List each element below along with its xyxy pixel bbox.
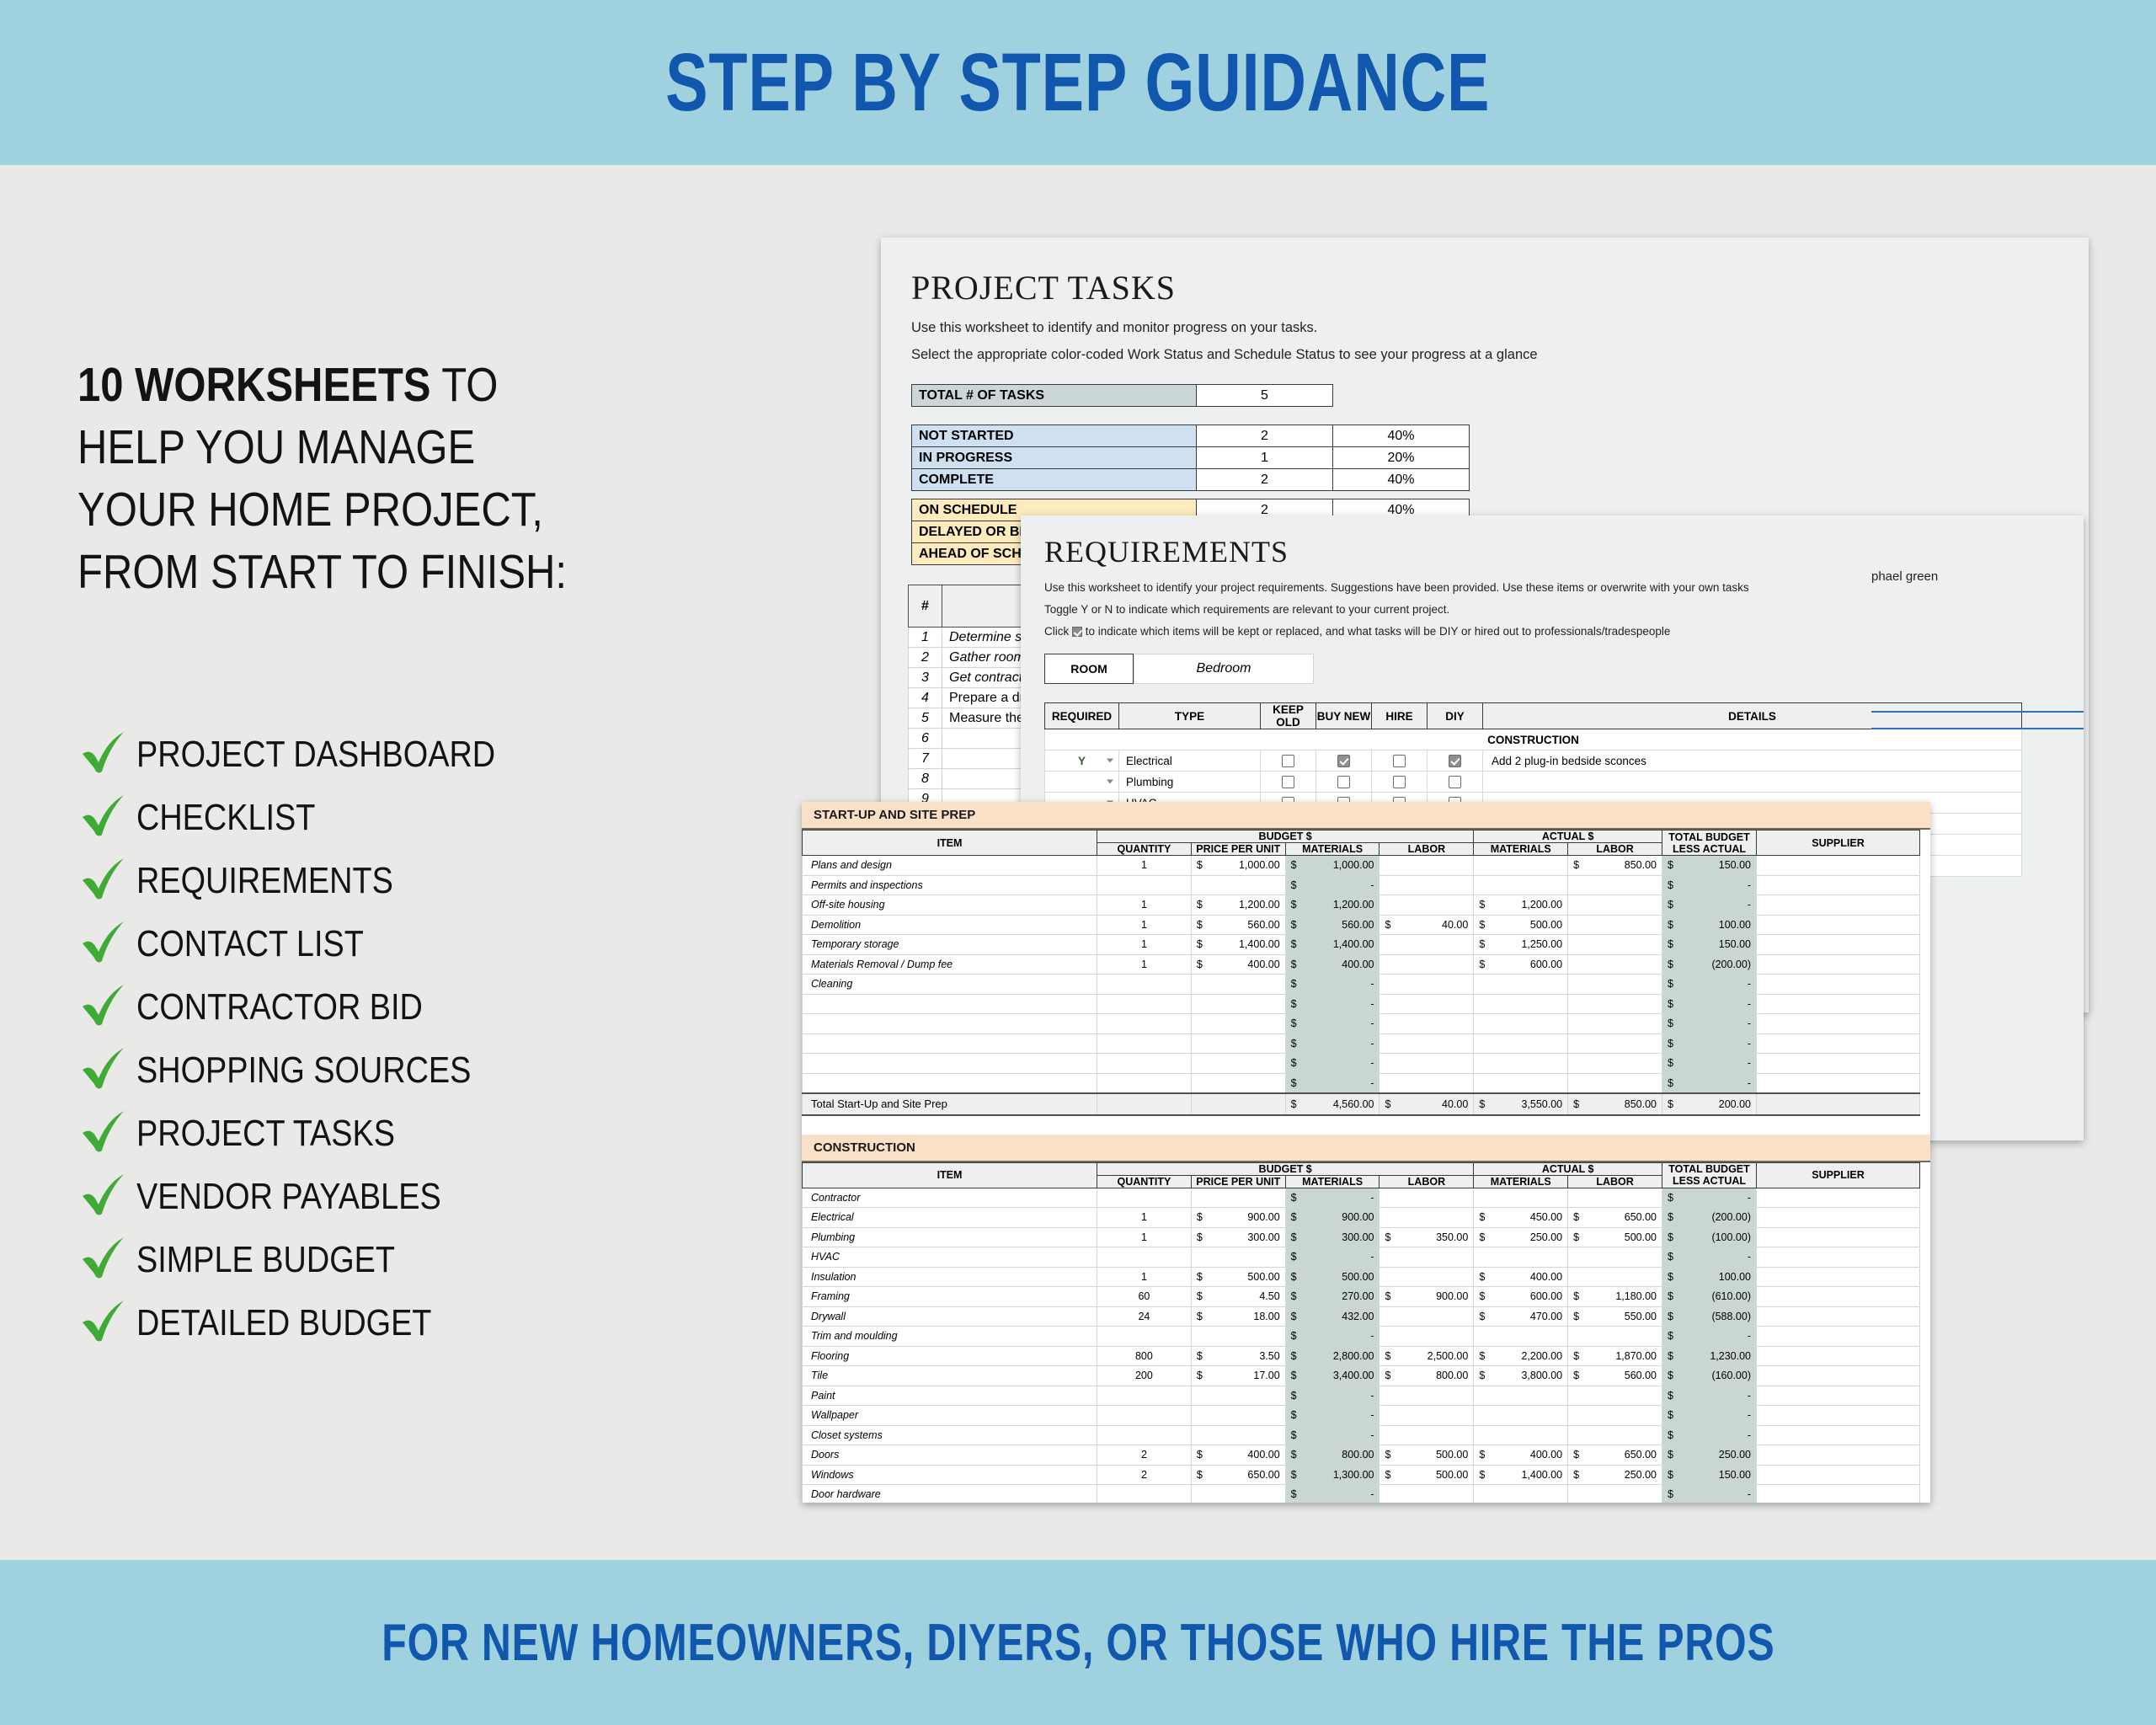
currency-symbol: $ [1668, 1211, 1673, 1223]
currency-symbol: $ [1291, 1271, 1297, 1283]
budget-price-per-unit [1191, 1327, 1285, 1347]
table-header-row-1: ITEMBUDGET $ACTUAL $TOTAL BUDGET LESS AC… [803, 1162, 1920, 1175]
budget-quantity[interactable] [1097, 875, 1192, 895]
worksheet-item-label: CONTRACTOR BID [136, 986, 423, 1028]
table-row[interactable]: Off-site housing1$1,200.00$1,200.00$1,20… [803, 895, 1920, 916]
actual-materials [1474, 1386, 1568, 1406]
budget-item[interactable]: Plumbing [803, 1227, 1097, 1247]
room-value[interactable]: Bedroom [1134, 654, 1314, 684]
actual-materials [1474, 1247, 1568, 1268]
budget-quantity[interactable] [1097, 1247, 1192, 1268]
currency-symbol: $ [1479, 1211, 1485, 1223]
budget-supplier[interactable] [1757, 935, 1920, 955]
budget-supplier[interactable] [1757, 1465, 1920, 1485]
budget-labor: $800.00 [1380, 1366, 1474, 1386]
keep-old-cell[interactable] [1261, 772, 1316, 793]
checkbox-icon[interactable] [1449, 755, 1461, 767]
budget-item[interactable]: Trim and moulding [803, 1327, 1097, 1347]
currency-symbol: $ [1291, 1077, 1297, 1089]
budget-col-budget-group: BUDGET $ [1097, 1162, 1474, 1175]
room-label: ROOM [1044, 654, 1134, 684]
budget-price-per-unit [1191, 1054, 1285, 1074]
project-tasks-subtitle-2: Select the appropriate color-coded Work … [911, 347, 1538, 363]
room-selector[interactable]: ROOM Bedroom [1044, 654, 1314, 684]
checkbox-icon [1072, 627, 1082, 637]
currency-symbol: $ [1479, 1350, 1485, 1362]
budget-supplier[interactable] [1757, 1406, 1920, 1426]
table-row[interactable]: Door hardware$-$- [803, 1485, 1920, 1503]
checkbox-icon[interactable] [1282, 776, 1294, 788]
budget-quantity[interactable]: 1 [1097, 935, 1192, 955]
budget-price-per-unit [1191, 1247, 1285, 1268]
budget-materials: $1,200.00 [1285, 895, 1380, 916]
budget-item[interactable]: Demolition [803, 915, 1097, 935]
currency-symbol: $ [1291, 1017, 1297, 1029]
budget-quantity[interactable]: 2 [1097, 1445, 1192, 1466]
actual-materials: $1,250.00 [1474, 935, 1568, 955]
budget-item[interactable]: Paint [803, 1386, 1097, 1406]
currency-symbol: $ [1385, 1098, 1390, 1110]
budget-col-quantity: QUANTITY [1097, 1175, 1192, 1188]
project-tasks-title: PROJECT TASKS [911, 268, 1176, 307]
budget-item[interactable]: Door hardware [803, 1485, 1097, 1503]
required-cell[interactable] [1045, 772, 1119, 793]
actual-labor: $1,870.00 [1568, 1346, 1662, 1366]
budget-supplier[interactable] [1757, 875, 1920, 895]
currency-symbol: $ [1479, 1290, 1485, 1302]
budget-item[interactable] [803, 1054, 1097, 1074]
budget-item[interactable]: HVAC [803, 1247, 1097, 1268]
table-row[interactable]: Plumbing [1045, 772, 2022, 793]
table-row[interactable]: Cleaning$-$- [803, 975, 1920, 995]
currency-symbol: $ [1573, 1469, 1579, 1481]
budget-less-actual: $100.00 [1662, 1267, 1757, 1287]
currency-symbol: $ [1668, 1390, 1673, 1402]
budget-item[interactable] [803, 1033, 1097, 1054]
budget-quantity[interactable]: 1 [1097, 1208, 1192, 1228]
headline-block: 10 WORKSHEETS TO HELP YOU MANAGE YOUR HO… [77, 354, 785, 603]
chevron-down-icon[interactable] [1107, 780, 1113, 784]
budget-price-per-unit [1191, 1485, 1285, 1503]
budget-materials: $1,300.00 [1285, 1465, 1380, 1485]
required-value: Y [1078, 755, 1086, 767]
budget-price-per-unit: $900.00 [1191, 1208, 1285, 1228]
currency-symbol: $ [1291, 899, 1297, 911]
currency-symbol: $ [1668, 1370, 1673, 1381]
budget-quantity[interactable]: 2 [1097, 1465, 1192, 1485]
budget-supplier[interactable] [1757, 1073, 1920, 1093]
budget-item[interactable]: Framing [803, 1287, 1097, 1307]
table-row[interactable]: Doors2$400.00$800.00$500.00$400.00$650.0… [803, 1445, 1920, 1466]
budget-less-actual: $150.00 [1662, 935, 1757, 955]
actual-materials [1474, 1485, 1568, 1503]
budget-supplier[interactable] [1757, 975, 1920, 995]
budget-materials: $- [1285, 1054, 1380, 1074]
budget-supplier[interactable] [1757, 1033, 1920, 1054]
budget-price-per-unit: $1,400.00 [1191, 935, 1285, 955]
budget-less-actual: $150.00 [1662, 856, 1757, 876]
table-row[interactable]: Plumbing1$300.00$300.00$350.00$250.00$50… [803, 1227, 1920, 1247]
table-row[interactable]: Demolition1$560.00$560.00$40.00$500.00$1… [803, 915, 1920, 935]
budget-col-materials: MATERIALS [1285, 1175, 1380, 1188]
budget-supplier[interactable] [1757, 1445, 1920, 1466]
budget-materials: $- [1285, 875, 1380, 895]
worksheet-item-label: VENDOR PAYABLES [136, 1176, 441, 1218]
budget-item[interactable] [803, 1073, 1097, 1093]
budget-col-labor: LABOR [1380, 1175, 1474, 1188]
bottom-banner-title: FOR NEW HOMEOWNERS, DIYERS, OR THOSE WHO… [382, 1613, 1774, 1673]
budget-item[interactable] [803, 994, 1097, 1014]
budget-labor [1380, 1425, 1474, 1445]
budget-materials: $- [1285, 1188, 1380, 1208]
budget-labor [1380, 1208, 1474, 1228]
check-icon [77, 1044, 130, 1097]
budget-supplier[interactable] [1757, 1366, 1920, 1386]
budget-price-per-unit: $18.00 [1191, 1306, 1285, 1327]
table-header-row: REQUIREDTYPEKEEP OLDBUY NEWHIREDIYDETAIL… [1045, 703, 2022, 729]
table-row[interactable]: $-$- [803, 1014, 1920, 1034]
currency-symbol: $ [1291, 1057, 1297, 1069]
budget-supplier[interactable] [1757, 1386, 1920, 1406]
table-row[interactable]: Materials Removal / Dump fee1$400.00$400… [803, 954, 1920, 975]
currency-symbol: $ [1197, 1231, 1203, 1243]
budget-item[interactable]: Electrical [803, 1208, 1097, 1228]
budget-section-band: CONSTRUCTION [802, 1135, 1930, 1162]
currency-symbol: $ [1291, 938, 1297, 950]
budget-materials: $3,400.00 [1285, 1366, 1380, 1386]
buy-new-cell[interactable] [1316, 750, 1372, 772]
budget-col-materials: MATERIALS [1285, 843, 1380, 856]
budget-quantity[interactable] [1097, 1014, 1192, 1034]
currency-symbol: $ [1385, 919, 1390, 931]
budget-less-actual: $(100.00) [1662, 1227, 1757, 1247]
checkbox-icon[interactable] [1449, 776, 1461, 788]
budget-supplier[interactable] [1757, 1014, 1920, 1034]
budget-price-per-unit: $300.00 [1191, 1227, 1285, 1247]
actual-labor: $650.00 [1568, 1445, 1662, 1466]
budget-item[interactable] [803, 1014, 1097, 1034]
budget-table[interactable]: ITEMBUDGET $ACTUAL $TOTAL BUDGET LESS AC… [802, 1162, 1920, 1503]
actual-materials: $1,400.00 [1474, 1465, 1568, 1485]
actual-labor [1568, 1386, 1662, 1406]
budget-materials: $900.00 [1285, 1208, 1380, 1228]
checkbox-icon[interactable] [1282, 755, 1294, 767]
table-row[interactable]: Temporary storage1$1,400.00$1,400.00$1,2… [803, 935, 1920, 955]
budget-quantity[interactable]: 24 [1097, 1306, 1192, 1327]
currency-symbol: $ [1668, 959, 1673, 970]
checkbox-icon[interactable] [1393, 776, 1406, 788]
budget-quantity[interactable]: 1 [1097, 915, 1192, 935]
requirement-details[interactable] [1483, 772, 2022, 793]
status-count: 2 [1197, 425, 1333, 447]
actual-labor [1568, 994, 1662, 1014]
currency-symbol: $ [1197, 938, 1203, 950]
currency-symbol: $ [1291, 859, 1297, 871]
table-row[interactable]: Tile200$17.00$3,400.00$800.00$3,800.00$5… [803, 1366, 1920, 1386]
budget-quantity[interactable]: 60 [1097, 1287, 1192, 1307]
table-row[interactable]: Flooring800$3.50$2,800.00$2,500.00$2,200… [803, 1346, 1920, 1366]
budget-supplier[interactable] [1757, 895, 1920, 916]
budget-quantity[interactable] [1097, 1188, 1192, 1208]
table-row[interactable]: Trim and moulding$-$- [803, 1327, 1920, 1347]
budget-supplier[interactable] [1757, 1208, 1920, 1228]
check-icon [77, 729, 130, 781]
budget-labor [1380, 1327, 1474, 1347]
currency-symbol: $ [1668, 1330, 1673, 1342]
worksheet-item-contact-list: CONTACT LIST [77, 912, 802, 975]
checkbox-icon[interactable] [1337, 755, 1350, 767]
keep-old-cell[interactable] [1261, 750, 1316, 772]
currency-symbol: $ [1668, 1469, 1673, 1481]
table-row[interactable]: $-$- [803, 1073, 1920, 1093]
table-row[interactable]: Windows2$650.00$1,300.00$500.00$1,400.00… [803, 1465, 1920, 1485]
budget-less-actual: $- [1662, 1485, 1757, 1503]
checkbox-icon[interactable] [1337, 776, 1350, 788]
status-percent: 20% [1333, 447, 1470, 469]
currency-symbol: $ [1573, 1098, 1579, 1110]
table-row[interactable]: YElectricalAdd 2 plug-in bedside sconces [1045, 750, 2022, 772]
budget-price-per-unit: $560.00 [1191, 915, 1285, 935]
table-row[interactable]: Framing60$4.50$270.00$900.00$600.00$1,18… [803, 1287, 1920, 1307]
budget-col-supplier: SUPPLIER [1757, 1162, 1920, 1188]
currency-symbol: $ [1668, 938, 1673, 950]
currency-symbol: $ [1573, 1370, 1579, 1381]
budget-supplier[interactable] [1757, 1054, 1920, 1074]
bottom-banner: FOR NEW HOMEOWNERS, DIYERS, OR THOSE WHO… [0, 1560, 2156, 1725]
budget-price-per-unit: $1,200.00 [1191, 895, 1285, 916]
currency-symbol: $ [1291, 1330, 1297, 1342]
currency-symbol: $ [1668, 859, 1673, 871]
headline-bold: 10 WORKSHEETS [77, 358, 430, 412]
budget-supplier[interactable] [1757, 954, 1920, 975]
budget-item[interactable]: Tile [803, 1366, 1097, 1386]
actual-materials [1474, 1425, 1568, 1445]
check-icon [77, 1234, 130, 1286]
budget-less-actual: $- [1662, 1188, 1757, 1208]
chevron-down-icon[interactable] [1107, 759, 1113, 763]
actual-labor [1568, 1033, 1662, 1054]
currency-symbol: $ [1291, 1390, 1297, 1402]
budget-item[interactable]: Permits and inspections [803, 875, 1097, 895]
currency-symbol: $ [1573, 1311, 1579, 1322]
budget-price-per-unit: $400.00 [1191, 954, 1285, 975]
table-row[interactable]: Wallpaper$-$- [803, 1406, 1920, 1426]
worksheet-item-label: SHOPPING SOURCES [136, 1049, 471, 1092]
currency-symbol: $ [1385, 1290, 1390, 1302]
requirement-details[interactable]: Add 2 plug-in bedside sconces [1483, 750, 2022, 772]
currency-symbol: $ [1668, 1488, 1673, 1500]
budget-item[interactable]: Drywall [803, 1306, 1097, 1327]
currency-symbol: $ [1291, 1211, 1297, 1223]
currency-symbol: $ [1291, 1488, 1297, 1500]
required-cell[interactable]: Y [1045, 750, 1119, 772]
total-tasks-value[interactable]: 5 [1197, 385, 1333, 407]
work-status-table: NOT STARTED240%IN PROGRESS120%COMPLETE24… [911, 425, 1470, 491]
table-row[interactable]: Plans and design1$1,000.00$1,000.00$850.… [803, 856, 1920, 876]
diy-cell[interactable] [1428, 750, 1483, 772]
actual-labor [1568, 975, 1662, 995]
budget-labor [1380, 856, 1474, 876]
actual-labor [1568, 1247, 1662, 1268]
checkbox-icon[interactable] [1393, 755, 1406, 767]
actual-labor [1568, 935, 1662, 955]
budget-less-actual: $(160.00) [1662, 1366, 1757, 1386]
currency-symbol: $ [1668, 1098, 1673, 1110]
currency-symbol: $ [1197, 859, 1203, 871]
table-row[interactable]: $-$- [803, 994, 1920, 1014]
budget-less-actual: $- [1662, 1425, 1757, 1445]
currency-symbol: $ [1479, 1231, 1485, 1243]
worksheet-list: PROJECT DASHBOARDCHECKLISTREQUIREMENTSCO… [77, 723, 802, 1354]
budget-item[interactable]: Windows [803, 1465, 1097, 1485]
table-row[interactable]: Insulation1$500.00$500.00$400.00$100.00 [803, 1267, 1920, 1287]
budget-quantity[interactable] [1097, 1054, 1192, 1074]
budget-item[interactable]: Wallpaper [803, 1406, 1097, 1426]
project-tasks-subtitle-1: Use this worksheet to identify and monit… [911, 320, 1317, 336]
requirements-subtitle-2: Toggle Y or N to indicate which requirem… [1044, 603, 1449, 616]
budget-item[interactable]: Contractor [803, 1188, 1097, 1208]
budget-quantity[interactable] [1097, 1386, 1192, 1406]
currency-symbol: $ [1291, 1370, 1297, 1381]
budget-item[interactable]: Plans and design [803, 856, 1097, 876]
budget-quantity[interactable]: 200 [1097, 1366, 1192, 1386]
currency-symbol: $ [1385, 1350, 1390, 1362]
table-row[interactable]: Closet systems$-$- [803, 1425, 1920, 1445]
table-row: TOTAL # OF TASKS 5 [912, 385, 1333, 407]
budget-supplier[interactable] [1757, 1425, 1920, 1445]
budget-quantity[interactable] [1097, 1033, 1192, 1054]
actual-materials [1474, 1188, 1568, 1208]
budget-item[interactable]: Insulation [803, 1267, 1097, 1287]
buy-new-cell[interactable] [1316, 772, 1372, 793]
budget-materials: $- [1285, 994, 1380, 1014]
budget-quantity[interactable] [1097, 1073, 1192, 1093]
actual-labor [1568, 1054, 1662, 1074]
budget-quantity[interactable] [1097, 1485, 1192, 1503]
budget-item[interactable]: Cleaning [803, 975, 1097, 995]
actual-materials: $600.00 [1474, 1287, 1568, 1307]
budget-quantity[interactable] [1097, 1406, 1192, 1426]
worksheet-item-requirements: REQUIREMENTS [77, 849, 802, 912]
top-banner-title: STEP BY STEP GUIDANCE [665, 35, 1490, 130]
currency-symbol: $ [1291, 1192, 1297, 1204]
budget-table[interactable]: ITEMBUDGET $ACTUAL $TOTAL BUDGET LESS AC… [802, 830, 1920, 1116]
budget-supplier[interactable] [1757, 1247, 1920, 1268]
budget-item[interactable]: Temporary storage [803, 935, 1097, 955]
currency-symbol: $ [1668, 998, 1673, 1010]
table-row[interactable]: Paint$-$- [803, 1386, 1920, 1406]
table-row[interactable]: Permits and inspections$-$- [803, 875, 1920, 895]
actual-materials [1474, 1406, 1568, 1426]
requirements-col-type: TYPE [1119, 703, 1261, 729]
budget-quantity[interactable] [1097, 994, 1192, 1014]
budget-supplier[interactable] [1757, 1287, 1920, 1307]
table-row[interactable]: $-$- [803, 1033, 1920, 1054]
currency-symbol: $ [1197, 1290, 1203, 1302]
budget-quantity[interactable]: 1 [1097, 1227, 1192, 1247]
budget-supplier[interactable] [1757, 1327, 1920, 1347]
blue-rule-1 [1871, 711, 2084, 713]
budget-supplier[interactable] [1757, 1346, 1920, 1366]
currency-symbol: $ [1291, 1231, 1297, 1243]
contact-name-text: phael green [1871, 569, 1938, 584]
budget-item[interactable]: Doors [803, 1445, 1097, 1466]
budget-col-actual-labor: LABOR [1568, 1175, 1662, 1188]
budget-less-actual: $- [1662, 895, 1757, 916]
table-row[interactable]: Electrical1$900.00$900.00$450.00$650.00$… [803, 1208, 1920, 1228]
actual-labor: $250.00 [1568, 1465, 1662, 1485]
status-count: 1 [1197, 447, 1333, 469]
budget-labor: $900.00 [1380, 1287, 1474, 1307]
currency-symbol: $ [1668, 879, 1673, 891]
budget-quantity[interactable]: 1 [1097, 856, 1192, 876]
budget-quantity[interactable] [1097, 1425, 1192, 1445]
budget-supplier[interactable] [1757, 856, 1920, 876]
task-number: 6 [909, 729, 942, 749]
budget-supplier[interactable] [1757, 1188, 1920, 1208]
budget-item[interactable]: Closet systems [803, 1425, 1097, 1445]
worksheet-item-label: PROJECT TASKS [136, 1113, 395, 1155]
table-row[interactable]: Contractor$-$- [803, 1188, 1920, 1208]
budget-item[interactable]: Materials Removal / Dump fee [803, 954, 1097, 975]
currency-symbol: $ [1573, 859, 1579, 871]
worksheet-item-simple-budget: SIMPLE BUDGET [77, 1228, 802, 1291]
budget-supplier[interactable] [1757, 1227, 1920, 1247]
budget-quantity[interactable]: 1 [1097, 1267, 1192, 1287]
budget-price-per-unit [1191, 975, 1285, 995]
budget-labor: $2,500.00 [1380, 1346, 1474, 1366]
worksheet-item-vendor-payables: VENDOR PAYABLES [77, 1165, 802, 1228]
table-row: COMPLETE240% [912, 469, 1470, 491]
budget-supplier[interactable] [1757, 1267, 1920, 1287]
status-percent: 40% [1333, 425, 1470, 447]
budget-price-per-unit [1191, 1406, 1285, 1426]
task-number: 4 [909, 688, 942, 708]
budget-quantity[interactable] [1097, 1327, 1192, 1347]
budget-item[interactable]: Off-site housing [803, 895, 1097, 916]
hire-cell[interactable] [1372, 772, 1428, 793]
table-row[interactable]: HVAC$-$- [803, 1247, 1920, 1268]
budget-quantity[interactable]: 1 [1097, 895, 1192, 916]
top-banner: STEP BY STEP GUIDANCE [0, 0, 2156, 165]
worksheet-item-label: SIMPLE BUDGET [136, 1239, 395, 1281]
headline-line-1-rest: TO [430, 358, 498, 412]
diy-cell[interactable] [1428, 772, 1483, 793]
status-label: IN PROGRESS [912, 447, 1197, 469]
currency-symbol: $ [1668, 1251, 1673, 1263]
currency-symbol: $ [1291, 1449, 1297, 1461]
table-row[interactable]: $-$- [803, 1054, 1920, 1074]
budget-supplier[interactable] [1757, 915, 1920, 935]
worksheet-item-detailed-budget: DETAILED BUDGET [77, 1291, 802, 1354]
requirements-title: REQUIREMENTS [1044, 534, 1289, 569]
actual-labor: $650.00 [1568, 1208, 1662, 1228]
budget-quantity[interactable]: 1 [1097, 954, 1192, 975]
currency-symbol: $ [1668, 1271, 1673, 1283]
budget-quantity[interactable]: 800 [1097, 1346, 1192, 1366]
actual-materials: $500.00 [1474, 915, 1568, 935]
worksheet-item-contractor-bid: CONTRACTOR BID [77, 975, 802, 1039]
hire-cell[interactable] [1372, 750, 1428, 772]
budget-item[interactable]: Flooring [803, 1346, 1097, 1366]
currency-symbol: $ [1573, 1211, 1579, 1223]
detailed-budget-sheet[interactable]: START-UP AND SITE PREPITEMBUDGET $ACTUAL… [802, 802, 1930, 1503]
budget-quantity[interactable] [1097, 975, 1192, 995]
budget-supplier[interactable] [1757, 1485, 1920, 1503]
budget-supplier[interactable] [1757, 994, 1920, 1014]
budget-supplier[interactable] [1757, 1306, 1920, 1327]
table-row[interactable]: Drywall24$18.00$432.00$470.00$550.00$(58… [803, 1306, 1920, 1327]
